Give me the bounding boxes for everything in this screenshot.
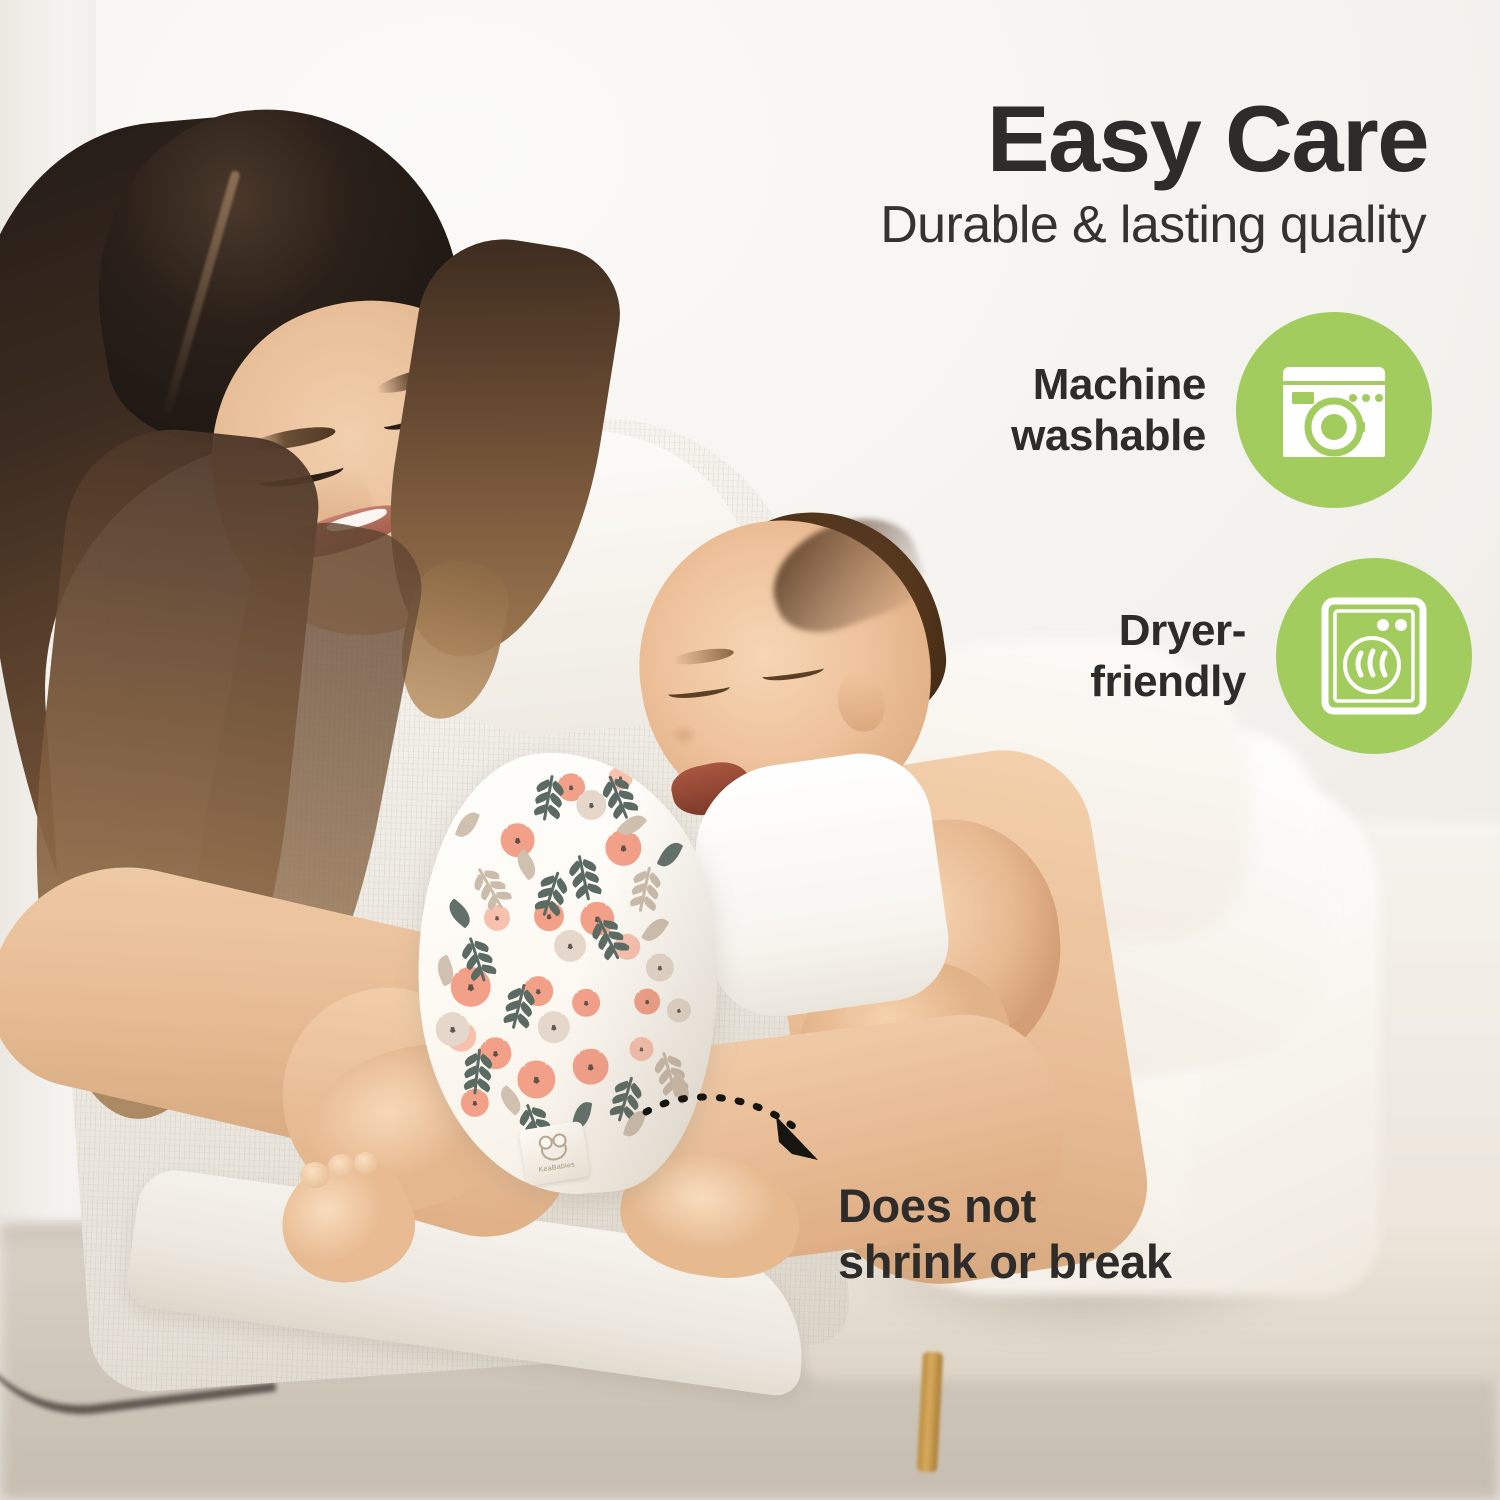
- dashed-curved-arrow-icon: [640, 1068, 860, 1178]
- washing-machine-icon: [1275, 351, 1393, 469]
- feature-label: Dryer- friendly: [1020, 605, 1246, 707]
- baby-toe: [354, 1152, 378, 1174]
- feature-label: Machine washable: [980, 359, 1206, 461]
- brand-tag-text: KeaBabies: [538, 1161, 575, 1174]
- baby-toe: [328, 1154, 355, 1178]
- callout-text: Does not shrink or break: [838, 1178, 1172, 1291]
- product-feature-image: KeaBabies Easy Care Durable & lasting qu…: [0, 0, 1500, 1500]
- machine-washable-badge: [1236, 312, 1432, 508]
- page-title: Easy Care: [987, 92, 1428, 186]
- feature-dryer-friendly: Dryer- friendly: [1020, 558, 1472, 754]
- feature-machine-washable: Machine washable: [980, 312, 1432, 508]
- baby-toe: [300, 1162, 330, 1188]
- page-subtitle: Durable & lasting quality: [880, 196, 1426, 254]
- tumble-dryer-icon: [1317, 595, 1431, 717]
- bear-face-icon: [539, 1137, 568, 1163]
- baby-onesie: [684, 745, 956, 1026]
- dryer-friendly-badge: [1276, 558, 1472, 754]
- brand-tag: KeaBabies: [519, 1121, 591, 1186]
